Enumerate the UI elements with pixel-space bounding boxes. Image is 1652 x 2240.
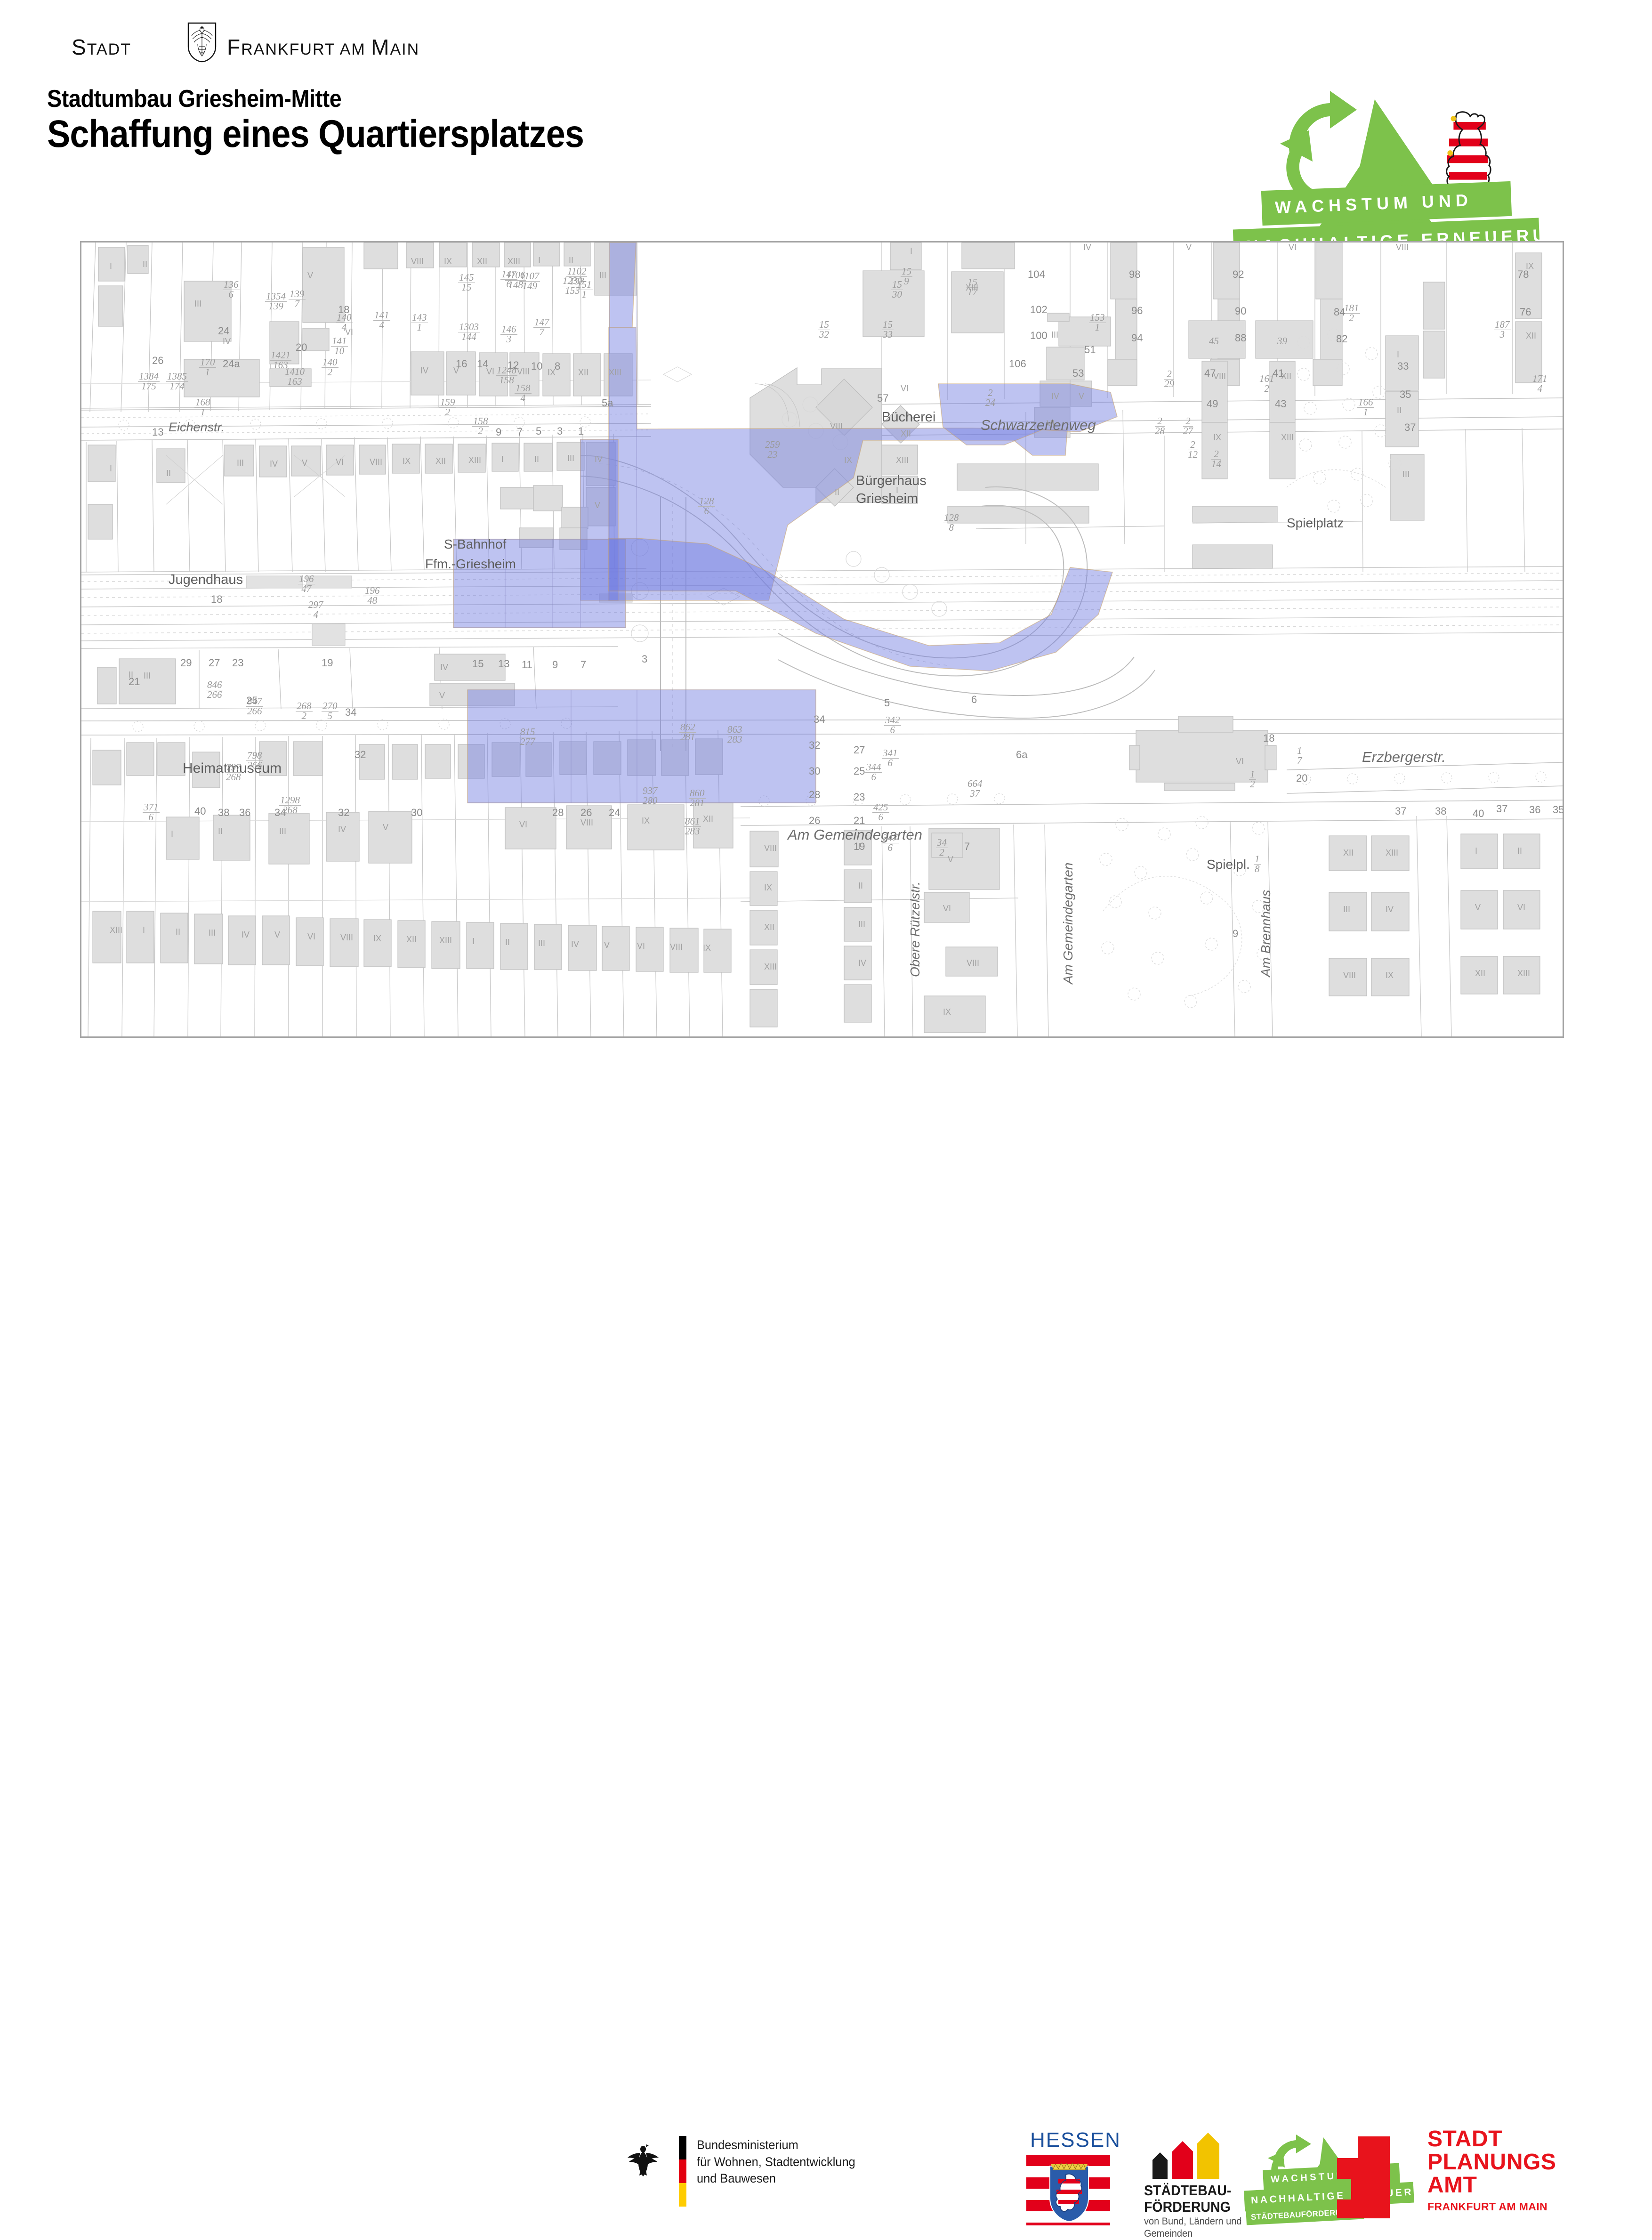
house-number: 27 bbox=[209, 657, 220, 669]
poster-page: STADT FRANKFURT AM MAIN Stadtumbau Gries… bbox=[0, 0, 1652, 1168]
storey-mark: XIII bbox=[609, 368, 621, 378]
storey-mark: IX bbox=[1213, 433, 1221, 443]
city-logo-word-frankfurt: FRANKFURT AM MAIN bbox=[227, 34, 419, 60]
storey-mark: IX bbox=[548, 368, 556, 378]
house-number: 57 bbox=[877, 392, 888, 404]
storey-mark: II bbox=[218, 826, 223, 836]
parcel-number: 1288 bbox=[943, 513, 960, 533]
parcel-number: 3416 bbox=[882, 749, 899, 768]
storey-mark: III bbox=[858, 920, 865, 930]
storey-mark: XIII bbox=[508, 257, 520, 267]
parcel-number: 1397 bbox=[289, 290, 306, 309]
bmwsb-line3: und Bauwesen bbox=[697, 2170, 855, 2187]
storey-mark: IX bbox=[943, 1007, 951, 1017]
house-number: 34 bbox=[345, 706, 356, 719]
parcel-number: 1414 bbox=[373, 311, 390, 330]
storey-mark: VI bbox=[519, 820, 527, 830]
storey-mark: VI bbox=[345, 327, 353, 337]
storey-mark: V bbox=[453, 366, 459, 376]
parcel-number: 66437 bbox=[967, 779, 983, 799]
house-number: 37 bbox=[1404, 421, 1416, 434]
parcel-number: 1530 bbox=[891, 280, 903, 299]
storey-mark: IX bbox=[844, 455, 852, 465]
storey-mark: V bbox=[307, 271, 313, 281]
parcel-number: 2705 bbox=[322, 702, 338, 721]
house-number: 84 bbox=[1334, 306, 1345, 318]
storey-mark: IV bbox=[571, 939, 579, 949]
storey-mark: VI bbox=[307, 932, 315, 942]
storey-mark: XIII bbox=[1517, 969, 1530, 978]
house-number: 32 bbox=[809, 739, 820, 752]
cadastral-map[interactable]: Eichenstr.SchwarzerlenwegErzbergerstr.Am… bbox=[80, 241, 1564, 1038]
storey-mark: IX bbox=[444, 257, 452, 267]
house-number: 76 bbox=[1520, 306, 1531, 318]
house-number: 29 bbox=[180, 657, 192, 669]
house-number: 18 bbox=[211, 593, 222, 606]
storey-mark: V bbox=[1475, 903, 1481, 913]
stadtplanungsamt-mark-icon bbox=[1329, 2130, 1412, 2218]
storey-mark: V bbox=[1186, 243, 1192, 252]
house-number: 9 bbox=[552, 659, 558, 671]
parcel-number: 1384175 bbox=[138, 372, 160, 391]
house-number: 36 bbox=[1529, 804, 1540, 816]
storey-mark: II bbox=[569, 256, 573, 266]
storey-mark: XIII bbox=[110, 925, 122, 935]
storey-mark: V bbox=[439, 691, 445, 701]
parcel-number: 3426 bbox=[884, 716, 901, 735]
parcel-number: 1714 bbox=[1531, 374, 1548, 394]
storey-mark: XII bbox=[1475, 969, 1485, 978]
storey-mark: VIII bbox=[1213, 372, 1226, 381]
storey-mark: I bbox=[110, 261, 112, 271]
house-number: 26 bbox=[152, 355, 163, 367]
place-label: Jugendhaus bbox=[169, 572, 243, 588]
house-number: 25 bbox=[854, 765, 865, 777]
house-number: 28 bbox=[809, 789, 820, 801]
place-label: S-Bahnhof bbox=[444, 537, 506, 552]
poster-subtitle: Stadtumbau Griesheim-Mitte bbox=[47, 85, 341, 113]
staedtebau-sub1: von Bund, Ländern und bbox=[1144, 2216, 1241, 2228]
storey-mark: I bbox=[1397, 350, 1399, 360]
house-number: 23 bbox=[854, 791, 865, 803]
house-number: 18 bbox=[338, 304, 349, 316]
parcel-number: 1532 bbox=[818, 320, 830, 340]
parcel-number: 1812 bbox=[1343, 304, 1360, 323]
house-number: 25 bbox=[246, 695, 258, 707]
storey-mark: III bbox=[538, 938, 545, 948]
storey-mark: VI bbox=[637, 941, 645, 951]
storey-mark: XII bbox=[578, 368, 588, 378]
house-number: 15 bbox=[472, 658, 484, 670]
storey-mark: III bbox=[237, 458, 244, 468]
house-number: 102 bbox=[1030, 304, 1048, 316]
house-number: 38 bbox=[218, 807, 229, 819]
parcel-number: 1584 bbox=[515, 384, 532, 403]
storey-mark: IV bbox=[595, 454, 603, 464]
footer-logo-strip: Bundesministerium für Wohnen, Stadtentwi… bbox=[0, 1062, 1652, 1168]
house-number: 7 bbox=[517, 426, 523, 438]
storey-mark: XII bbox=[901, 429, 911, 439]
storey-mark: II bbox=[505, 938, 510, 947]
map-canvas bbox=[81, 243, 1563, 1036]
storey-mark: V bbox=[948, 855, 953, 865]
parcel-number: 1354139 bbox=[265, 292, 287, 311]
bundesadler-icon bbox=[626, 2140, 660, 2178]
storey-mark: IV bbox=[338, 825, 346, 834]
place-label: Spielplatz bbox=[1287, 516, 1344, 531]
storey-mark: VIII bbox=[370, 457, 382, 467]
parcel-number: 1286 bbox=[698, 497, 715, 516]
storey-mark: VIII bbox=[580, 818, 593, 828]
house-number: 1 bbox=[578, 425, 584, 437]
storey-mark: II bbox=[1517, 846, 1522, 856]
house-number: 30 bbox=[809, 765, 820, 777]
house-number: 6a bbox=[1016, 749, 1027, 761]
parcel-number: 19647 bbox=[298, 574, 315, 594]
storey-mark: III bbox=[599, 271, 606, 281]
storey-mark: I bbox=[143, 925, 145, 935]
storey-mark: III bbox=[1051, 330, 1058, 340]
storey-mark: VIII bbox=[411, 257, 424, 267]
house-number: 7 bbox=[580, 659, 586, 671]
house-number: 32 bbox=[355, 749, 366, 761]
staedtebau-line2: FÖRDERUNG bbox=[1144, 2199, 1231, 2216]
storey-mark: VI bbox=[1236, 757, 1244, 767]
staedtebau-sub2: Gemeinden bbox=[1144, 2228, 1241, 2240]
storey-mark: I bbox=[501, 454, 504, 464]
parcel-number: 1681 bbox=[194, 398, 211, 417]
house-number: 20 bbox=[1296, 772, 1307, 784]
house-number: 9 bbox=[496, 426, 501, 438]
storey-mark: IX bbox=[403, 456, 411, 466]
spa-line2: PLANUNGS bbox=[1427, 2151, 1556, 2174]
spa-line3: AMT bbox=[1427, 2174, 1556, 2197]
storey-mark: II bbox=[1397, 405, 1402, 415]
bmwsb-line2: für Wohnen, Stadtentwicklung bbox=[697, 2154, 855, 2171]
storey-mark: XII bbox=[1526, 331, 1536, 341]
storey-mark: XIII bbox=[1386, 848, 1398, 858]
parcel-number: 1107149 bbox=[519, 272, 540, 291]
storey-mark: V bbox=[302, 458, 307, 468]
spa-line1: STADT bbox=[1427, 2128, 1556, 2151]
house-number: 13 bbox=[152, 426, 163, 438]
storey-mark: VI bbox=[901, 384, 909, 394]
storey-mark: XIII bbox=[468, 455, 481, 465]
street-label: Eichenstr. bbox=[169, 420, 225, 435]
storey-mark: IV bbox=[858, 958, 866, 968]
storey-mark: I bbox=[538, 256, 540, 266]
place-label: Spielpl. bbox=[1207, 857, 1250, 872]
city-logo-word-stadt: STADT bbox=[72, 34, 131, 60]
parcel-number: 863283 bbox=[726, 725, 743, 744]
storey-mark: XIII bbox=[764, 962, 777, 972]
street-label: Am Brennhaus bbox=[1258, 890, 1273, 977]
house-number: 100 bbox=[1030, 330, 1048, 342]
house-number: 37 bbox=[1395, 805, 1406, 817]
house-number: 35 bbox=[1400, 388, 1411, 401]
storey-mark: VIII bbox=[830, 421, 843, 431]
house-number: 5 bbox=[536, 425, 541, 437]
parcel-number: 3476 bbox=[882, 833, 899, 853]
house-number: 35 bbox=[1553, 804, 1564, 816]
storey-mark: XII bbox=[406, 935, 417, 945]
house-number: 26 bbox=[809, 815, 820, 827]
storey-mark: III bbox=[1343, 905, 1350, 914]
storey-mark: IV bbox=[420, 366, 428, 376]
parcel-number: 1477 bbox=[533, 318, 550, 337]
place-label: Bürgerhaus bbox=[856, 473, 927, 489]
staedtebau-line1: STÄDTEBAU- bbox=[1144, 2183, 1231, 2199]
storey-mark: XII bbox=[764, 922, 774, 932]
storey-mark: III bbox=[144, 671, 151, 681]
parcel-number: 1402 bbox=[322, 358, 338, 377]
house-number: 32 bbox=[338, 807, 349, 819]
house-number: 24 bbox=[609, 807, 620, 819]
storey-mark: IV bbox=[270, 459, 278, 469]
street-label: Erzbergerstr. bbox=[1362, 749, 1446, 766]
storey-mark: XIII bbox=[1281, 433, 1294, 443]
parcel-number: 861283 bbox=[684, 817, 701, 836]
house-number: 28 bbox=[552, 807, 564, 819]
house-number: 98 bbox=[1129, 268, 1140, 281]
storey-mark: I bbox=[171, 829, 173, 839]
storey-mark: XII bbox=[435, 456, 446, 466]
parcel-number: 862281 bbox=[679, 723, 696, 742]
parcel-number: 224 bbox=[985, 388, 995, 408]
house-number: 3 bbox=[557, 425, 563, 437]
storey-mark: II bbox=[143, 259, 147, 269]
house-number: 30 bbox=[411, 807, 422, 819]
storey-mark: IV bbox=[223, 337, 231, 347]
house-number: 37 bbox=[1496, 803, 1507, 815]
house-number: 90 bbox=[1235, 305, 1246, 317]
bmwsb-line1: Bundesministerium bbox=[697, 2137, 855, 2154]
house-number: 13 bbox=[498, 658, 509, 670]
storey-mark: XII bbox=[477, 257, 487, 267]
street-label: Schwarzerlenweg bbox=[981, 417, 1096, 434]
house-number: 11 bbox=[522, 659, 532, 671]
parcel-number: 12 bbox=[1249, 770, 1256, 789]
parcel-number: 1701 bbox=[199, 358, 216, 377]
staedtebau-wordmark: STÄDTEBAU- FÖRDERUNG bbox=[1144, 2183, 1231, 2215]
storey-mark: VIII bbox=[670, 942, 683, 952]
parcel-number: 798266 bbox=[246, 751, 263, 770]
parcel-number: 3446 bbox=[865, 763, 882, 782]
parcel-number: 1385174 bbox=[166, 372, 188, 391]
storey-mark: II bbox=[176, 927, 180, 937]
house-number: 88 bbox=[1235, 332, 1246, 344]
house-number: 36 bbox=[239, 807, 250, 819]
house-number: 40 bbox=[1473, 808, 1484, 820]
parcel-number: 229 bbox=[1164, 370, 1174, 389]
house-number: 24 bbox=[218, 325, 229, 337]
storey-mark: XII bbox=[703, 814, 713, 824]
house-number: 33 bbox=[1397, 360, 1409, 372]
parcel-number: 1463 bbox=[500, 325, 517, 344]
storey-mark: VI bbox=[1517, 903, 1525, 913]
house-number: 23 bbox=[232, 657, 243, 669]
storey-mark: VI bbox=[486, 367, 494, 377]
storey-mark: III bbox=[1402, 469, 1410, 479]
storey-mark: VI bbox=[1289, 243, 1297, 252]
storey-mark: VI bbox=[1047, 419, 1055, 429]
storey-mark: XIII bbox=[966, 283, 978, 293]
storey-mark: XII bbox=[1343, 848, 1354, 858]
house-number: 10 bbox=[531, 360, 542, 372]
storey-mark: IX bbox=[642, 816, 650, 826]
storey-mark: V bbox=[383, 823, 388, 833]
storey-mark: II bbox=[534, 454, 539, 464]
parcel-number: 1533 bbox=[882, 320, 894, 340]
storey-mark: I bbox=[110, 464, 112, 474]
storey-mark: III bbox=[279, 826, 286, 836]
parcel-number: 17 bbox=[1296, 746, 1303, 766]
storey-mark: XIII bbox=[896, 455, 909, 465]
house-number: 104 bbox=[1028, 268, 1045, 281]
parcel-number: 14515 bbox=[458, 273, 475, 292]
storey-mark: I bbox=[896, 485, 898, 495]
storey-mark: I bbox=[910, 246, 912, 256]
parcel-number: 1592 bbox=[439, 398, 456, 417]
storey-mark: V bbox=[1079, 391, 1084, 401]
parcel-number: 212 bbox=[1188, 440, 1198, 460]
house-number: 34 bbox=[814, 713, 825, 726]
storey-mark: VIII bbox=[517, 367, 530, 377]
house-number: 9 bbox=[1233, 928, 1238, 940]
frankfurt-city-logo: STADT FRANKFURT AM MAIN bbox=[72, 26, 373, 66]
storey-mark: IV bbox=[1051, 391, 1059, 401]
place-label: Ffm.-Griesheim bbox=[425, 557, 516, 572]
house-number: 24a bbox=[223, 358, 240, 370]
house-number: 5 bbox=[884, 697, 890, 709]
storey-mark: VIII bbox=[967, 958, 979, 968]
parcel-number: 25923 bbox=[764, 440, 781, 460]
house-number: 19 bbox=[322, 657, 333, 669]
house-number: 26 bbox=[580, 807, 592, 819]
house-number: 40 bbox=[194, 805, 206, 817]
storey-mark: I bbox=[472, 937, 475, 946]
storey-mark: V bbox=[604, 940, 610, 950]
house-number: 38 bbox=[1435, 805, 1446, 817]
staedtebau-subtext: von Bund, Ländern und Gemeinden bbox=[1144, 2216, 1241, 2240]
parcel-number: 1531 bbox=[1089, 313, 1106, 332]
storey-mark: V bbox=[595, 501, 600, 510]
place-label: Bücherei bbox=[882, 410, 935, 425]
street-label: Obere Rützelstr. bbox=[908, 881, 923, 977]
storey-mark: III bbox=[209, 928, 216, 938]
house-number: 82 bbox=[1336, 333, 1347, 345]
parcel-number: 860281 bbox=[689, 789, 706, 808]
house-number: 92 bbox=[1233, 268, 1244, 281]
storey-mark: IX bbox=[1526, 261, 1534, 271]
parcel-number: 39 bbox=[1277, 337, 1287, 346]
storey-mark: IV bbox=[440, 663, 448, 672]
house-number: 6 bbox=[971, 694, 977, 706]
parcel-number: 45 bbox=[1209, 337, 1219, 346]
parcel-number: 2974 bbox=[307, 600, 324, 620]
parcel-number: 18 bbox=[1254, 855, 1261, 874]
storey-mark: I bbox=[1475, 846, 1477, 856]
parcel-number: 227 bbox=[1183, 417, 1193, 436]
street-label: Am Gemeindegarten bbox=[1061, 863, 1076, 984]
storey-mark: IV bbox=[1083, 243, 1091, 252]
storey-mark: III bbox=[567, 453, 574, 463]
frankfurt-eagle-shield-icon bbox=[187, 22, 217, 63]
parcel-number: 1431 bbox=[411, 313, 428, 332]
parcel-number: 1661 bbox=[1357, 398, 1374, 417]
house-number: 43 bbox=[1275, 398, 1286, 410]
german-flag-bar-icon bbox=[679, 2136, 686, 2207]
storey-mark: XIII bbox=[439, 936, 452, 946]
storey-mark: VI bbox=[943, 904, 951, 914]
hessen-coat-of-arms-icon bbox=[1048, 2161, 1090, 2224]
parcel-number: 1303144 bbox=[458, 323, 480, 342]
parcel-number: 3716 bbox=[143, 803, 160, 822]
house-number: 18 bbox=[1263, 732, 1274, 744]
house-number: 20 bbox=[296, 341, 307, 354]
spa-sublabel: FRANKFURT AM MAIN bbox=[1427, 2200, 1547, 2213]
house-number: 53 bbox=[1072, 367, 1084, 380]
parcel-number: 815277 bbox=[519, 728, 536, 747]
storey-mark: IV bbox=[242, 930, 250, 940]
house-number: 34 bbox=[274, 807, 286, 819]
parcel-number: 4256 bbox=[872, 803, 889, 822]
storey-mark: IV bbox=[1386, 905, 1394, 914]
house-number: 49 bbox=[1207, 398, 1218, 410]
parcel-number: 1410163 bbox=[284, 367, 306, 387]
storey-mark: VIII bbox=[764, 843, 777, 853]
parcel-number: 2682 bbox=[296, 702, 313, 721]
hessen-wordmark: HESSEN bbox=[1030, 2128, 1121, 2152]
poster-title: Schaffung eines Quartiersplatzes bbox=[47, 112, 584, 156]
storey-mark: VIII bbox=[1343, 970, 1356, 980]
house-number: 27 bbox=[854, 744, 865, 756]
storey-mark: I bbox=[858, 841, 861, 851]
storey-mark: IX bbox=[373, 934, 381, 944]
parcel-number: 228 bbox=[1155, 417, 1165, 436]
storey-mark: II bbox=[129, 670, 133, 680]
storey-mark: II bbox=[835, 487, 839, 497]
parcel-number: 937280 bbox=[642, 786, 659, 806]
three-houses-icon bbox=[1148, 2132, 1223, 2179]
house-number: 94 bbox=[1131, 332, 1143, 344]
parcel-number: 1582 bbox=[472, 417, 489, 436]
place-label: Griesheim bbox=[856, 491, 918, 507]
house-number: 21 bbox=[854, 815, 865, 827]
storey-mark: IX bbox=[1386, 970, 1394, 980]
house-number: 96 bbox=[1131, 305, 1143, 317]
storey-mark: II bbox=[858, 881, 863, 891]
storey-mark: IX bbox=[764, 883, 772, 893]
parcel-number: 1230153 bbox=[562, 276, 583, 296]
storey-mark: IX bbox=[703, 943, 711, 953]
parcel-number: 797268 bbox=[225, 763, 242, 782]
parcel-number: 14110 bbox=[331, 337, 348, 356]
parcel-number: 1366 bbox=[223, 280, 240, 299]
storey-mark: VI bbox=[336, 457, 344, 467]
parcel-number: 342 bbox=[936, 838, 948, 857]
house-number: 5a bbox=[602, 397, 613, 409]
storey-mark: II bbox=[166, 469, 171, 478]
parcel-number: 846266 bbox=[206, 680, 223, 700]
bmwsb-text: Bundesministerium für Wohnen, Stadtentwi… bbox=[697, 2137, 855, 2187]
parcel-number: 1873 bbox=[1494, 320, 1511, 340]
parcel-number: 19648 bbox=[364, 586, 381, 606]
stadtplanungsamt-wordmark: STADT PLANUNGS AMT bbox=[1427, 2128, 1556, 2197]
storey-mark: VIII bbox=[1396, 243, 1409, 252]
house-number: 106 bbox=[1009, 358, 1026, 370]
parcel-number: 214 bbox=[1211, 450, 1221, 469]
